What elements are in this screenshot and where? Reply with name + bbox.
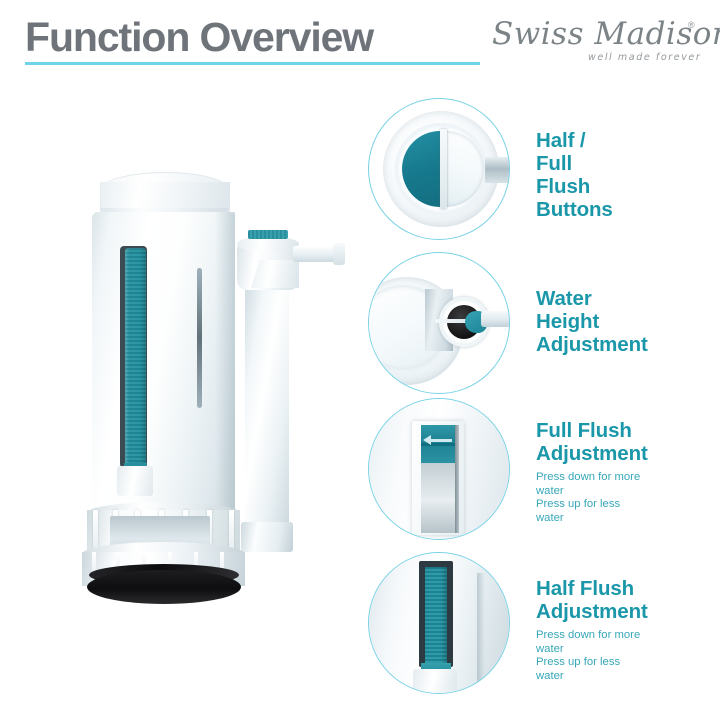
brand-logo: Swiss Madison ® well made forever <box>492 16 707 72</box>
callout-subtitle: Press down for more water Press up for l… <box>536 629 648 684</box>
callout-title: Half Flush Adjustment <box>536 578 648 624</box>
fill-valve-outlet-tip <box>333 243 345 265</box>
flush-plate-stem <box>485 157 510 183</box>
callout-text: Water Height Adjustment <box>536 288 648 357</box>
callout-text: Half / Full Flush Buttons <box>536 130 613 222</box>
direction-arrow-tail <box>430 439 452 442</box>
black-rubber-gasket <box>87 570 241 604</box>
direction-arrow-icon <box>423 435 431 445</box>
body-shading <box>477 573 485 683</box>
callout-title: Full Flush Adjustment <box>536 420 648 466</box>
half-flush-tab-housing <box>117 466 153 496</box>
title-underline-rule <box>25 62 480 65</box>
page-title: Function Overview <box>25 14 373 61</box>
refill-tube <box>481 311 510 327</box>
button-divider <box>440 129 447 209</box>
product-image-flush-valve <box>55 150 345 610</box>
half-flush-teal-strip <box>425 567 447 667</box>
callout-title: Half / Full Flush Buttons <box>536 130 613 222</box>
callout-title: Water Height Adjustment <box>536 288 648 357</box>
cylinder-vent-slot <box>197 268 202 408</box>
fill-valve-foot <box>241 522 293 552</box>
fill-valve-tower <box>245 282 289 544</box>
callout-image-circle <box>368 552 510 694</box>
tab-housing <box>413 669 457 694</box>
registered-trademark-icon: ® <box>688 20 695 30</box>
callout-text: Half Flush Adjustment Press down for mor… <box>536 578 648 684</box>
flush-valve-cylinder <box>92 212 235 512</box>
brand-tagline: well made forever <box>588 52 701 63</box>
callout-image-circle <box>368 98 510 240</box>
function-overview-page: Function Overview Swiss Madison ® well m… <box>0 0 720 720</box>
fill-valve-teal-cap <box>248 230 288 239</box>
window-inner-edge <box>455 425 459 533</box>
page-header: Function Overview Swiss Madison ® well m… <box>0 0 720 92</box>
callout-image-circle <box>368 252 510 394</box>
callout-subtitle: Press down for more water Press up for l… <box>536 471 648 526</box>
callout-text: Full Flush Adjustment Press down for mor… <box>536 420 648 526</box>
cylinder-shading <box>215 212 235 512</box>
half-flush-teal-scale-strip <box>125 248 146 466</box>
brand-name: Swiss Madison <box>492 16 707 52</box>
callout-image-circle <box>368 398 510 540</box>
